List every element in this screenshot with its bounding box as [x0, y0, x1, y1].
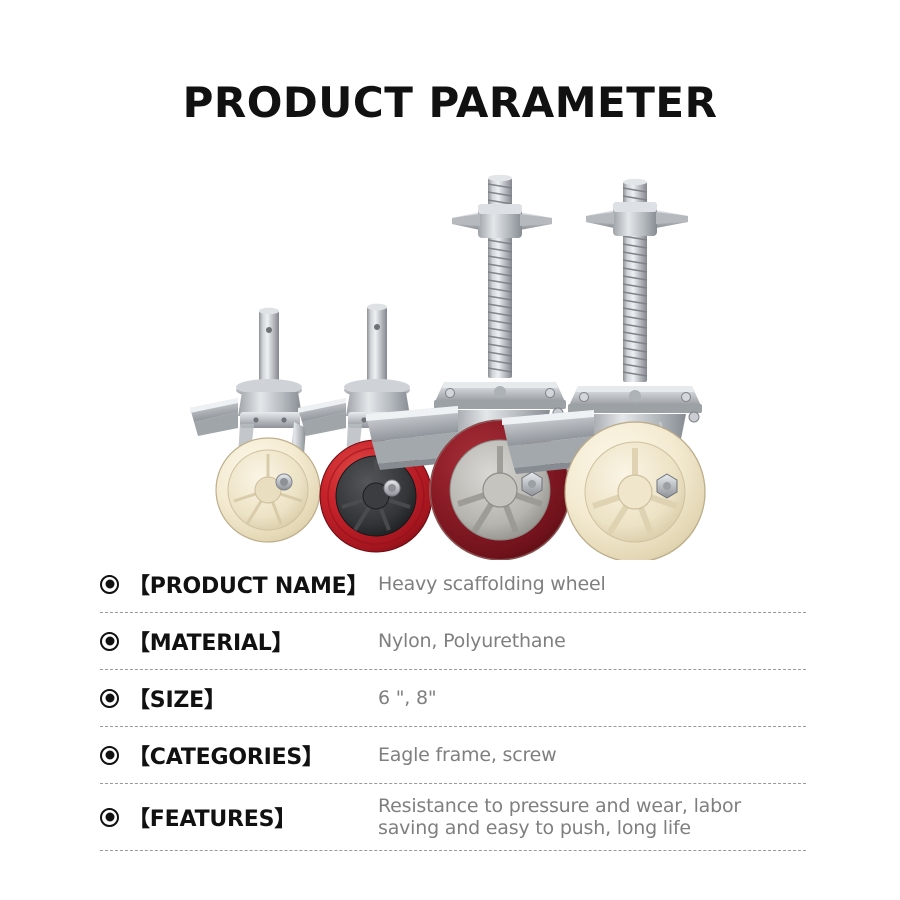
- wing-nut-collar-4: [586, 202, 688, 236]
- caster-1-small-nylon: [190, 308, 320, 542]
- spec-label-features: 【FEATURES】: [128, 801, 378, 833]
- bullet-circle-icon: [100, 632, 119, 651]
- spec-value-categories: Eagle frame, screw: [378, 744, 806, 766]
- spec-row-size: 【SIZE】 6 ", 8": [100, 670, 806, 727]
- spec-row-features: 【FEATURES】 Resistance to pressure and we…: [100, 784, 806, 851]
- page-title: PRODUCT PARAMETER: [0, 78, 900, 127]
- spec-value-size: 6 ", 8": [378, 687, 806, 709]
- bullet-circle-icon: [100, 689, 119, 708]
- spec-row-product-name: 【PRODUCT NAME】 Heavy scaffolding wheel: [100, 556, 806, 613]
- spec-label-product-name: 【PRODUCT NAME】: [128, 568, 378, 600]
- spec-label-size: 【SIZE】: [128, 682, 378, 714]
- product-image: [180, 160, 720, 560]
- spec-value-product-name: Heavy scaffolding wheel: [378, 573, 806, 595]
- bullet-circle-icon: [100, 746, 119, 765]
- bullet-circle-icon: [100, 808, 119, 827]
- spec-row-material: 【MATERIAL】 Nylon, Polyurethane: [100, 613, 806, 670]
- bullet-circle-icon: [100, 575, 119, 594]
- spec-value-material: Nylon, Polyurethane: [378, 630, 806, 652]
- spec-label-material: 【MATERIAL】: [128, 625, 378, 657]
- spec-label-categories: 【CATEGORIES】: [128, 739, 378, 771]
- wing-nut-collar-3: [452, 204, 552, 238]
- spec-value-features: Resistance to pressure and wear, labor s…: [378, 795, 806, 840]
- spec-row-categories: 【CATEGORIES】 Eagle frame, screw: [100, 727, 806, 784]
- spec-table: 【PRODUCT NAME】 Heavy scaffolding wheel 【…: [100, 556, 806, 851]
